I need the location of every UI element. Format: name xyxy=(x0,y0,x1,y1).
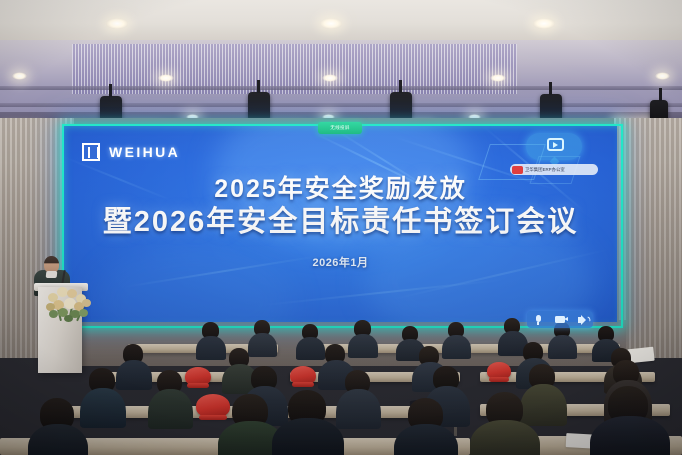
title-line-2: 暨2026年安全目标责任书签订会议 xyxy=(64,205,617,241)
ceiling-downlight xyxy=(533,18,555,29)
ceiling-downlight xyxy=(320,18,342,29)
speaker-person-collar xyxy=(46,271,58,278)
title-date: 2026年1月 xyxy=(64,254,617,270)
cast-bubble xyxy=(526,133,582,160)
safety-helmet xyxy=(196,394,230,418)
cast-label-chip: 卫华集团ERP办公室 xyxy=(510,164,598,175)
camera-icon xyxy=(555,316,565,323)
conference-room-photo: WEIHUA 2025年安全奖励发放 暨2026年安全目标责任书签订会议 202… xyxy=(0,0,682,455)
ceiling-downlight xyxy=(490,74,506,82)
led-display-wall: WEIHUA 2025年安全奖励发放 暨2026年安全目标责任书签订会议 202… xyxy=(64,126,617,322)
screen-title-block: 2025年安全奖励发放 暨2026年安全目标责任书签订会议 xyxy=(64,174,617,241)
screen-cast-icon xyxy=(547,138,564,151)
microphone-icon xyxy=(536,315,541,322)
wireless-cast-tab-label: 无线投屏 xyxy=(330,125,350,131)
ceiling-band xyxy=(0,86,682,90)
ceiling-downlight xyxy=(158,74,174,82)
microphone-button[interactable] xyxy=(532,313,545,326)
weihua-mark-icon xyxy=(82,143,100,161)
weihua-logo: WEIHUA xyxy=(82,143,180,161)
volume-button[interactable] xyxy=(576,313,589,326)
camera-button[interactable] xyxy=(554,313,567,326)
weihua-logo-text: WEIHUA xyxy=(109,144,180,160)
media-control-bar[interactable] xyxy=(527,311,593,328)
ceiling-downlight xyxy=(655,72,670,80)
ceiling-downlight xyxy=(12,72,27,80)
safety-helmet xyxy=(185,367,211,386)
flower-arrangement xyxy=(44,283,100,325)
screen-cast-overlay: 卫华集团ERP办公室 xyxy=(510,133,598,181)
safety-helmet xyxy=(290,366,316,385)
ceiling-downlight xyxy=(106,18,128,29)
cast-label-text: 卫华集团ERP办公室 xyxy=(525,167,565,173)
ceiling-downlight xyxy=(322,74,338,82)
cast-badge-icon xyxy=(512,166,523,174)
safety-helmet xyxy=(487,362,511,380)
speaker-volume-icon xyxy=(578,317,582,323)
wireless-cast-tab: 无线投屏 xyxy=(318,122,362,134)
